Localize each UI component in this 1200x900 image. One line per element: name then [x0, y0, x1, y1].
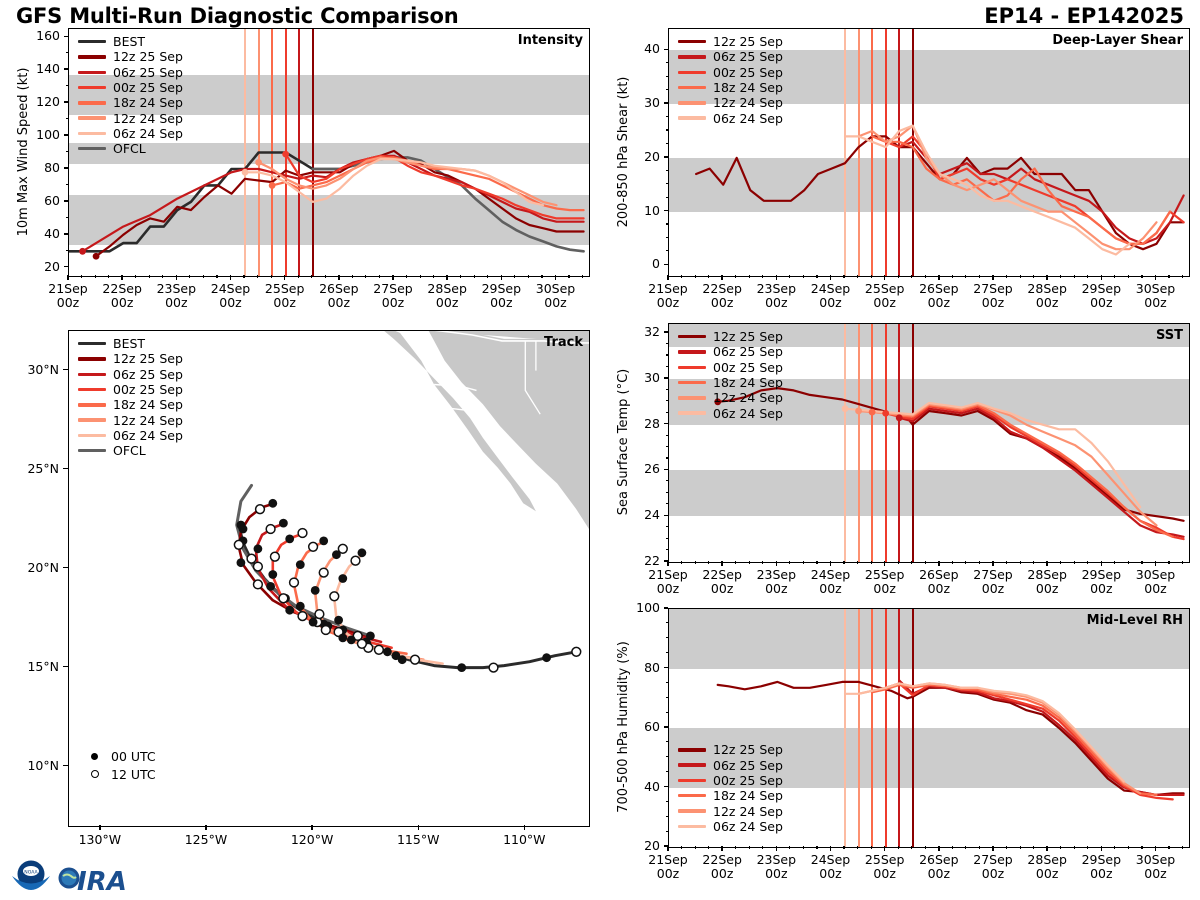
legend-row: 12z 24 Sep: [78, 110, 183, 125]
y-tick-minor: [66, 200, 69, 201]
legend-label: 12z 25 Sep: [713, 329, 783, 344]
y-tick-minor: [666, 607, 669, 608]
legend-swatch-18z-24-sep: [78, 101, 106, 104]
legend-label: 12z 25 Sep: [113, 49, 183, 64]
legend-label: OFCL: [113, 141, 146, 156]
y-tick-minor: [666, 538, 669, 539]
panel-track: Track10°N15°N20°N25°N30°N130°W125°W120°W…: [0, 330, 600, 900]
y-tick-minor: [666, 197, 669, 198]
legend-row: 12z 25 Sep: [678, 329, 783, 344]
lon-tick-label: 115°W: [384, 833, 452, 847]
y-tick-minor: [66, 85, 69, 86]
legend-row: 18z 24 Sep: [678, 80, 783, 95]
track-marker-filled: [338, 634, 347, 643]
panel-shear: Deep-Layer Shear010203040200-850 hPa She…: [600, 28, 1200, 328]
y-tick-label: 40: [600, 41, 660, 56]
y-tick-minor: [66, 217, 69, 218]
init-marker: [255, 159, 262, 166]
legend-label: 06z 25 Sep: [713, 344, 783, 359]
legend-row: 06z 24 Sep: [678, 405, 783, 420]
track-marker-open: [358, 639, 367, 648]
y-tick-minor: [666, 697, 669, 698]
legend-row: 12z 25 Sep: [678, 742, 783, 757]
legend-row: 00z 25 Sep: [678, 65, 783, 80]
series-18z-24-sep: [872, 136, 1170, 243]
y-tick-minor: [66, 266, 69, 267]
legend-swatch-06z-25-sep: [78, 71, 106, 74]
lat-tick-label: 30°N: [0, 362, 59, 377]
legend-swatch-06z-25-sep: [78, 373, 106, 376]
init-marker: [242, 169, 249, 176]
y-tick-minor: [666, 515, 669, 516]
legend-row: 00z 25 Sep: [678, 773, 783, 788]
legend-row: 06z 25 Sep: [678, 49, 783, 64]
lat-tick-label: 20°N: [0, 560, 59, 575]
lat-tick-mark: [63, 765, 68, 766]
legend-swatch-12z-24-sep: [678, 809, 706, 812]
track-marker-open: [411, 655, 420, 664]
legend-label: 00z 25 Sep: [713, 360, 783, 375]
y-tick-minor: [66, 167, 69, 168]
legend-row: 06z 25 Sep: [678, 757, 783, 772]
legend-label: BEST: [113, 336, 145, 351]
legend-row: 12z 24 Sep: [678, 390, 783, 405]
init-marker: [842, 405, 849, 412]
x-tick-label: 30Sep00z: [522, 282, 590, 311]
legend-row: 06z 24 Sep: [78, 126, 183, 141]
y-tick-minor: [666, 210, 669, 211]
track-marker-open: [489, 663, 498, 672]
series-06z-24-sep: [845, 683, 1124, 781]
lon-tick-label: 110°W: [490, 833, 558, 847]
lat-tick-mark: [63, 369, 68, 370]
legend-label: 18z 24 Sep: [713, 788, 783, 803]
legend-row: 12z 25 Sep: [678, 34, 783, 49]
y-tick-label: 20: [600, 838, 660, 853]
series-18z-24-sep: [872, 405, 1173, 537]
y-tick-minor: [666, 622, 669, 623]
y-axis-label-shear: 200-850 hPa Shear (kt): [616, 76, 631, 227]
y-tick-minor: [666, 170, 669, 171]
panel-title-sst: SST: [1156, 328, 1183, 343]
y-tick-label: 160: [0, 28, 60, 43]
y-tick-minor: [666, 816, 669, 817]
legend-swatch-12z-25-sep: [678, 748, 706, 751]
y-tick-minor: [666, 116, 669, 117]
y-tick-minor: [666, 469, 669, 470]
y-tick-minor: [666, 503, 669, 504]
cira-logo: IRA: [57, 859, 137, 897]
legend-row: 18z 24 Sep: [78, 397, 183, 412]
page-title-right: EP14 - EP142025: [984, 4, 1184, 28]
y-tick-minor: [666, 332, 669, 333]
track-marker-filled: [358, 548, 367, 557]
y-tick-minor: [666, 400, 669, 401]
y-tick-minor: [666, 652, 669, 653]
legend-swatch-06z-25-sep: [678, 55, 706, 58]
track-marker-filled: [266, 582, 275, 591]
y-tick-minor: [666, 492, 669, 493]
y-tick-label: 32: [600, 324, 660, 339]
y-tick-minor: [666, 549, 669, 550]
legend-swatch-best: [78, 40, 106, 43]
legend-row: 06z 24 Sep: [678, 110, 783, 125]
y-tick-label: 20: [0, 259, 60, 274]
legend-row: 18z 24 Sep: [78, 95, 183, 110]
noaa-logo: NOAA: [8, 858, 54, 898]
marker-legend-label: 00 UTC: [111, 749, 156, 764]
lat-tick-label: 10°N: [0, 758, 59, 773]
legend-shear: 12z 25 Sep06z 25 Sep00z 25 Sep18z 24 Sep…: [678, 34, 783, 126]
track-marker-filled: [309, 618, 318, 627]
y-tick-minor: [666, 457, 669, 458]
legend-row: 18z 24 Sep: [678, 375, 783, 390]
track-marker-open: [254, 562, 263, 571]
lat-tick-label: 15°N: [0, 659, 59, 674]
legend-intensity: BEST12z 25 Sep06z 25 Sep00z 25 Sep18z 24…: [78, 34, 183, 156]
y-tick-minor: [666, 377, 669, 378]
legend-row: 06z 25 Sep: [78, 367, 183, 382]
track-marker-open: [572, 647, 581, 656]
marker-legend-row: 00 UTC: [86, 747, 156, 765]
track-marker-filled: [392, 651, 401, 660]
legend-row: 12z 24 Sep: [678, 95, 783, 110]
legend-row: 12z 24 Sep: [78, 412, 183, 427]
legend-label: 12z 24 Sep: [713, 95, 783, 110]
legend-sst: 12z 25 Sep06z 25 Sep00z 25 Sep18z 24 Sep…: [678, 329, 783, 421]
init-marker: [79, 248, 86, 255]
legend-label: 00z 25 Sep: [113, 80, 183, 95]
legend-label: 18z 24 Sep: [713, 80, 783, 95]
y-tick-minor: [66, 134, 69, 135]
legend-row: 12z 25 Sep: [78, 49, 183, 64]
legend-row: 06z 25 Sep: [78, 65, 183, 80]
legend-swatch-18z-24-sep: [678, 794, 706, 797]
track-marker-filled: [383, 647, 392, 656]
legend-swatch-06z-24-sep: [78, 132, 106, 135]
track-marker-open: [309, 542, 318, 551]
init-marker: [896, 414, 903, 421]
y-tick-minor: [666, 831, 669, 832]
track-marker-filled: [347, 636, 356, 645]
y-tick-minor: [666, 103, 669, 104]
track-marker-filled: [457, 663, 466, 672]
y-tick-minor: [666, 637, 669, 638]
track-marker-open: [247, 554, 256, 563]
legend-row: 06z 24 Sep: [78, 428, 183, 443]
track-marker-filled: [296, 602, 305, 611]
series-06z-25-sep: [899, 409, 1183, 537]
legend-swatch-00z-25-sep: [678, 779, 706, 782]
y-tick-minor: [666, 771, 669, 772]
series-12z-25-sep: [696, 136, 1184, 249]
track-marker-open: [266, 525, 275, 534]
legend-swatch-ofcl: [78, 147, 106, 150]
y-tick-minor: [666, 343, 669, 344]
y-tick-minor: [666, 726, 669, 727]
init-marker: [869, 409, 876, 416]
track-marker-open: [298, 529, 307, 538]
legend-label: 06z 25 Sep: [113, 65, 183, 80]
legend-label: 06z 25 Sep: [713, 758, 783, 773]
track-marker-open: [290, 578, 299, 587]
y-tick-minor: [66, 52, 69, 53]
legend-row: 12z 25 Sep: [78, 351, 183, 366]
legend-row: 06z 25 Sep: [678, 344, 783, 359]
y-axis-label-rh: 700-500 hPa Humidity (%): [616, 641, 631, 813]
legend-label: 12z 24 Sep: [713, 804, 783, 819]
track-marker-filled: [268, 499, 277, 508]
legend-row: 00z 25 Sep: [78, 382, 183, 397]
y-tick-minor: [66, 102, 69, 103]
marker-legend-row: 12 UTC: [86, 765, 156, 783]
x-tick-label: 30Sep00z: [1122, 282, 1190, 311]
y-tick-minor: [666, 435, 669, 436]
y-tick-minor: [666, 389, 669, 390]
legend-row: 18z 24 Sep: [678, 788, 783, 803]
panel-title-shear: Deep-Layer Shear: [1052, 33, 1183, 48]
init-marker: [93, 253, 100, 260]
series-00z-25-sep: [286, 154, 584, 218]
lon-tick-label: 125°W: [172, 833, 240, 847]
svg-text:NOAA: NOAA: [24, 870, 38, 876]
legend-swatch-06z-24-sep: [78, 434, 106, 437]
legend-label: 12z 24 Sep: [113, 413, 183, 428]
y-tick-minor: [666, 129, 669, 130]
y-tick-minor: [666, 264, 669, 265]
panel-intensity: Intensity2040608010012014016010m Max Win…: [0, 28, 600, 328]
legend-row: OFCL: [78, 443, 183, 458]
track-marker-filled: [542, 653, 551, 662]
legend-label: OFCL: [113, 443, 146, 458]
legend-label: 00z 25 Sep: [113, 382, 183, 397]
lon-tick-label: 130°W: [66, 833, 134, 847]
legend-swatch-00z-25-sep: [78, 86, 106, 89]
lat-tick-mark: [63, 468, 68, 469]
lat-tick-label: 25°N: [0, 461, 59, 476]
legend-label: 12z 24 Sep: [113, 111, 183, 126]
init-marker: [269, 182, 276, 189]
y-tick-minor: [66, 118, 69, 119]
y-tick-minor: [666, 801, 669, 802]
legend-swatch-18z-24-sep: [678, 381, 706, 384]
y-tick-minor: [666, 49, 669, 50]
lon-tick-label: 120°W: [278, 833, 346, 847]
legend-row: 00z 25 Sep: [78, 80, 183, 95]
series-best: [69, 153, 340, 252]
legend-swatch-12z-24-sep: [678, 101, 706, 104]
legend-swatch-12z-25-sep: [78, 55, 106, 58]
y-tick-minor: [666, 156, 669, 157]
y-tick-minor: [666, 423, 669, 424]
legend-label: 18z 24 Sep: [113, 95, 183, 110]
y-axis-label-intensity: 10m Max Wind Speed (kt): [16, 67, 31, 236]
track-marker-filled: [334, 616, 343, 625]
track-marker-filled: [338, 574, 347, 583]
track-marker-filled: [285, 606, 294, 615]
y-tick-minor: [666, 786, 669, 787]
series-00z-25-sep: [886, 136, 1184, 243]
legend-row: 12z 24 Sep: [678, 803, 783, 818]
y-tick-minor: [66, 184, 69, 185]
track-marker-open: [375, 645, 384, 654]
y-tick-minor: [666, 741, 669, 742]
marker-open: [91, 770, 99, 778]
legend-swatch-12z-25-sep: [678, 335, 706, 338]
init-marker: [882, 410, 889, 417]
legend-label: 18z 24 Sep: [713, 375, 783, 390]
footer-logos: NOAA IRA: [8, 858, 137, 898]
y-tick-minor: [66, 233, 69, 234]
panel-title-intensity: Intensity: [518, 33, 583, 48]
legend-rh: 12z 25 Sep06z 25 Sep00z 25 Sep18z 24 Sep…: [678, 742, 783, 834]
y-tick-minor: [666, 183, 669, 184]
y-tick-minor: [66, 69, 69, 70]
x-tick-label: 30Sep00z: [1122, 568, 1190, 597]
legend-swatch-06z-24-sep: [678, 116, 706, 119]
legend-swatch-12z-25-sep: [78, 357, 106, 360]
track-marker-filled: [319, 537, 328, 546]
track-marker-open: [338, 544, 347, 553]
y-tick-label: 100: [600, 600, 660, 615]
track-marker-open: [298, 612, 307, 621]
panel-rh: Mid-Level RH20406080100700-500 hPa Humid…: [600, 608, 1200, 900]
y-tick-minor: [66, 250, 69, 251]
y-tick-minor: [666, 354, 669, 355]
y-axis-label-sst: Sea Surface Temp (°C): [616, 369, 631, 516]
track-marker-filled: [311, 586, 320, 595]
legend-swatch-18z-24-sep: [678, 86, 706, 89]
y-tick-label: 0: [600, 256, 660, 271]
track-marker-open: [319, 568, 328, 577]
legend-label: 00z 25 Sep: [713, 65, 783, 80]
init-marker: [855, 408, 862, 415]
legend-label: 06z 24 Sep: [713, 111, 783, 126]
y-tick-minor: [666, 237, 669, 238]
legend-swatch-12z-24-sep: [78, 116, 106, 119]
track-marker-open: [271, 552, 280, 561]
y-tick-minor: [666, 223, 669, 224]
x-tick-label: 30Sep00z: [1122, 853, 1190, 882]
y-tick-minor: [666, 446, 669, 447]
y-tick-minor: [666, 526, 669, 527]
legend-label: 18z 24 Sep: [113, 397, 183, 412]
init-marker: [282, 151, 289, 158]
legend-row: 06z 24 Sep: [678, 819, 783, 834]
legend-swatch-06z-24-sep: [678, 825, 706, 828]
legend-label: 00z 25 Sep: [713, 773, 783, 788]
legend-label: 12z 25 Sep: [713, 34, 783, 49]
page-title-left: GFS Multi-Run Diagnostic Comparison: [16, 4, 458, 28]
marker-filled: [91, 753, 98, 760]
legend-label: BEST: [113, 34, 145, 49]
y-tick-minor: [666, 667, 669, 668]
y-tick-minor: [666, 76, 669, 77]
track-marker-open: [234, 540, 243, 549]
marker-legend-label: 12 UTC: [111, 767, 156, 782]
y-tick-minor: [666, 143, 669, 144]
y-tick-label: 22: [600, 553, 660, 568]
y-tick-minor: [666, 480, 669, 481]
y-tick-minor: [666, 682, 669, 683]
track-marker-filled: [237, 558, 246, 567]
y-tick-minor: [66, 151, 69, 152]
legend-swatch-00z-25-sep: [678, 366, 706, 369]
marker-legend: 00 UTC12 UTC: [86, 747, 156, 783]
legend-row: 00z 25 Sep: [678, 360, 783, 375]
panel-title-track: Track: [544, 335, 583, 350]
y-tick-minor: [666, 89, 669, 90]
legend-swatch-best: [78, 342, 106, 345]
track-best: [239, 525, 577, 668]
legend-label: 06z 24 Sep: [713, 819, 783, 834]
legend-row: OFCL: [78, 141, 183, 156]
track-marker-open: [321, 626, 330, 635]
track-marker-open: [279, 594, 288, 603]
legend-swatch-12z-24-sep: [678, 396, 706, 399]
series-06z-25-sep: [899, 680, 1183, 795]
legend-label: 12z 25 Sep: [113, 351, 183, 366]
y-tick-minor: [666, 756, 669, 757]
y-tick-minor: [66, 36, 69, 37]
track-marker-open: [254, 580, 263, 589]
legend-row: BEST: [78, 34, 183, 49]
track-marker-filled: [268, 570, 277, 579]
lat-tick-mark: [63, 666, 68, 667]
y-tick-minor: [666, 712, 669, 713]
legend-track: BEST12z 25 Sep06z 25 Sep00z 25 Sep18z 24…: [78, 336, 183, 458]
panel-title-rh: Mid-Level RH: [1087, 613, 1183, 628]
legend-swatch-18z-24-sep: [78, 403, 106, 406]
legend-label: 06z 25 Sep: [713, 49, 783, 64]
legend-swatch-12z-24-sep: [78, 418, 106, 421]
track-marker-open: [256, 505, 265, 514]
track-marker-filled: [239, 525, 248, 534]
y-tick-minor: [666, 62, 669, 63]
legend-label: 06z 24 Sep: [713, 406, 783, 421]
legend-swatch-12z-25-sep: [678, 40, 706, 43]
legend-row: BEST: [78, 336, 183, 351]
legend-swatch-00z-25-sep: [78, 388, 106, 391]
legend-swatch-ofcl: [78, 449, 106, 452]
legend-label: 06z 24 Sep: [113, 428, 183, 443]
track-marker-filled: [254, 544, 263, 553]
y-tick-minor: [666, 366, 669, 367]
legend-swatch-06z-25-sep: [678, 763, 706, 766]
legend-swatch-06z-24-sep: [678, 411, 706, 414]
legend-label: 12z 24 Sep: [713, 390, 783, 405]
track-marker-filled: [285, 535, 294, 544]
y-tick-minor: [666, 412, 669, 413]
y-tick-minor: [666, 250, 669, 251]
legend-swatch-00z-25-sep: [678, 71, 706, 74]
lat-tick-mark: [63, 567, 68, 568]
track-marker-filled: [296, 560, 305, 569]
track-marker-open: [315, 610, 324, 619]
legend-label: 12z 25 Sep: [713, 742, 783, 757]
track-marker-open: [330, 592, 339, 601]
panel-sst: SST222426283032Sea Surface Temp (°C)21Se…: [600, 323, 1200, 615]
legend-label: 06z 25 Sep: [113, 367, 183, 382]
svg-text:IRA: IRA: [77, 867, 127, 897]
legend-swatch-06z-25-sep: [678, 350, 706, 353]
track-marker-filled: [279, 519, 288, 528]
legend-label: 06z 24 Sep: [113, 126, 183, 141]
track-marker-open: [351, 556, 360, 565]
